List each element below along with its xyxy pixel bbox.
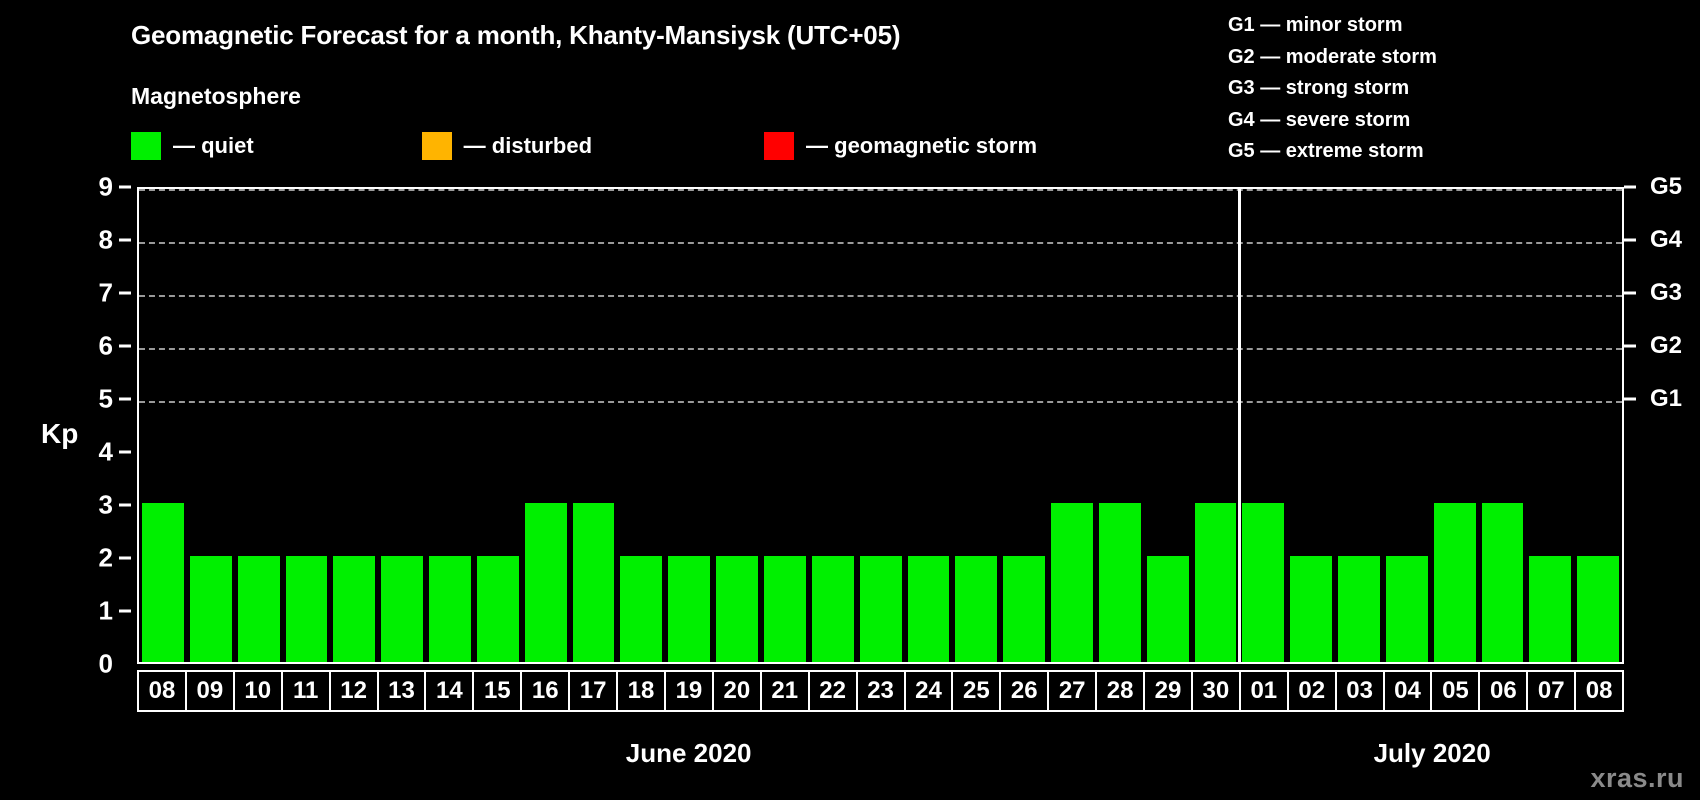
g-tick-label-g2: G2 bbox=[1650, 332, 1682, 360]
date-cell[interactable]: 03 bbox=[1337, 672, 1385, 710]
date-cell[interactable]: 06 bbox=[1480, 672, 1528, 710]
bar[interactable] bbox=[429, 556, 471, 662]
bar-cell[interactable] bbox=[1479, 189, 1527, 662]
kp-tick-label-4: 4 bbox=[99, 437, 113, 468]
bar-cell[interactable] bbox=[1000, 189, 1048, 662]
date-axis: 0809101112131415161718192021222324252627… bbox=[137, 670, 1624, 712]
kp-axis-title: Kp bbox=[41, 418, 78, 450]
date-cell[interactable]: 09 bbox=[187, 672, 235, 710]
kp-tick-label-8: 8 bbox=[99, 225, 113, 256]
bar[interactable] bbox=[812, 556, 854, 662]
g-tick-mark-g2 bbox=[1624, 345, 1636, 348]
bar-cell[interactable] bbox=[617, 189, 665, 662]
bar[interactable] bbox=[142, 503, 184, 662]
date-cell[interactable]: 29 bbox=[1145, 672, 1193, 710]
bar-cell[interactable] bbox=[1048, 189, 1096, 662]
chart-plot-wrapper: 0123456789 Kp G1G2G3G4G5 080910111213141… bbox=[0, 0, 1700, 800]
kp-tick-mark-9 bbox=[119, 186, 131, 189]
bar[interactable] bbox=[1386, 556, 1428, 662]
bar[interactable] bbox=[286, 556, 328, 662]
g-tick-label-g5: G5 bbox=[1650, 173, 1682, 201]
date-cell[interactable]: 08 bbox=[1576, 672, 1622, 710]
date-cell[interactable]: 24 bbox=[906, 672, 954, 710]
date-cell[interactable]: 22 bbox=[810, 672, 858, 710]
bar[interactable] bbox=[1529, 556, 1571, 662]
month-label: June 2020 bbox=[626, 738, 752, 769]
bar-cell[interactable] bbox=[283, 189, 331, 662]
bar-cell[interactable] bbox=[522, 189, 570, 662]
kp-tick-mark-3 bbox=[119, 504, 131, 507]
bar-cell[interactable] bbox=[1431, 189, 1479, 662]
kp-tick-mark-4 bbox=[119, 451, 131, 454]
bar-cell[interactable] bbox=[378, 189, 426, 662]
bar[interactable] bbox=[716, 556, 758, 662]
kp-tick-label-3: 3 bbox=[99, 490, 113, 521]
kp-tick-mark-2 bbox=[119, 557, 131, 560]
date-cell[interactable]: 08 bbox=[139, 672, 187, 710]
bar[interactable] bbox=[525, 503, 567, 662]
kp-tick-label-1: 1 bbox=[99, 596, 113, 627]
bar-cell[interactable] bbox=[1096, 189, 1144, 662]
kp-tick-mark-7 bbox=[119, 292, 131, 295]
bar-cell[interactable] bbox=[952, 189, 1000, 662]
bar-cell[interactable] bbox=[713, 189, 761, 662]
date-cell[interactable]: 05 bbox=[1432, 672, 1480, 710]
kp-tick-label-7: 7 bbox=[99, 278, 113, 309]
bar[interactable] bbox=[333, 556, 375, 662]
date-cell[interactable]: 07 bbox=[1528, 672, 1576, 710]
date-cell[interactable]: 20 bbox=[714, 672, 762, 710]
bar-cell[interactable] bbox=[1144, 189, 1192, 662]
kp-tick-mark-1 bbox=[119, 610, 131, 613]
bar[interactable] bbox=[573, 503, 615, 662]
bar-cell[interactable] bbox=[761, 189, 809, 662]
bar-cell[interactable] bbox=[809, 189, 857, 662]
kp-tick-mark-5 bbox=[119, 398, 131, 401]
bar[interactable] bbox=[1051, 503, 1093, 662]
date-cell[interactable]: 17 bbox=[570, 672, 618, 710]
g-tick-label-g1: G1 bbox=[1650, 385, 1682, 413]
date-cell[interactable]: 27 bbox=[1049, 672, 1097, 710]
date-cell[interactable]: 02 bbox=[1289, 672, 1337, 710]
bar[interactable] bbox=[1147, 556, 1189, 662]
bar-cell[interactable] bbox=[1383, 189, 1431, 662]
g-tick-label-g4: G4 bbox=[1650, 226, 1682, 254]
bar[interactable] bbox=[238, 556, 280, 662]
bar-series bbox=[139, 189, 1622, 662]
date-cell[interactable]: 16 bbox=[522, 672, 570, 710]
date-cell[interactable]: 11 bbox=[283, 672, 331, 710]
g-scale-axis: G1G2G3G4G5 bbox=[1624, 187, 1700, 664]
bar-cell[interactable] bbox=[1526, 189, 1574, 662]
bar[interactable] bbox=[1242, 503, 1284, 662]
bar-cell[interactable] bbox=[139, 189, 187, 662]
kp-tick-label-2: 2 bbox=[99, 543, 113, 574]
bar[interactable] bbox=[381, 556, 423, 662]
month-label: July 2020 bbox=[1374, 738, 1491, 769]
bar-cell[interactable] bbox=[187, 189, 235, 662]
bar[interactable] bbox=[1290, 556, 1332, 662]
date-cell[interactable]: 26 bbox=[1001, 672, 1049, 710]
bar[interactable] bbox=[668, 556, 710, 662]
g-tick-mark-g4 bbox=[1624, 239, 1636, 242]
kp-tick-mark-8 bbox=[119, 239, 131, 242]
bar[interactable] bbox=[1338, 556, 1380, 662]
bar[interactable] bbox=[190, 556, 232, 662]
date-cell[interactable]: 12 bbox=[331, 672, 379, 710]
date-cell[interactable]: 13 bbox=[379, 672, 427, 710]
bar-cell[interactable] bbox=[665, 189, 713, 662]
date-cell[interactable]: 30 bbox=[1193, 672, 1241, 710]
bar-cell[interactable] bbox=[1335, 189, 1383, 662]
date-cell[interactable]: 10 bbox=[235, 672, 283, 710]
kp-tick-label-6: 6 bbox=[99, 331, 113, 362]
bar-cell[interactable] bbox=[1574, 189, 1622, 662]
bar-cell[interactable] bbox=[330, 189, 378, 662]
date-cell[interactable]: 19 bbox=[666, 672, 714, 710]
date-cell[interactable]: 01 bbox=[1241, 672, 1289, 710]
watermark: xras.ru bbox=[1590, 763, 1684, 794]
month-divider bbox=[1238, 189, 1241, 662]
bar[interactable] bbox=[860, 556, 902, 662]
bar-cell[interactable] bbox=[857, 189, 905, 662]
bar[interactable] bbox=[1099, 503, 1141, 662]
bar-cell[interactable] bbox=[235, 189, 283, 662]
bar[interactable] bbox=[1434, 503, 1476, 662]
date-cell[interactable]: 14 bbox=[426, 672, 474, 710]
date-cell[interactable]: 21 bbox=[762, 672, 810, 710]
kp-tick-label-9: 9 bbox=[99, 172, 113, 203]
bar[interactable] bbox=[1195, 503, 1237, 662]
bar[interactable] bbox=[620, 556, 662, 662]
bar-cell[interactable] bbox=[426, 189, 474, 662]
bar[interactable] bbox=[764, 556, 806, 662]
date-cell[interactable]: 15 bbox=[474, 672, 522, 710]
bar[interactable] bbox=[1577, 556, 1619, 662]
bar-cell[interactable] bbox=[570, 189, 618, 662]
bar[interactable] bbox=[908, 556, 950, 662]
date-cell[interactable]: 18 bbox=[618, 672, 666, 710]
date-cell[interactable]: 04 bbox=[1385, 672, 1433, 710]
bar-cell[interactable] bbox=[1287, 189, 1335, 662]
kp-tick-label-0: 0 bbox=[99, 649, 113, 680]
bar-cell[interactable] bbox=[1239, 189, 1287, 662]
date-cell[interactable]: 28 bbox=[1097, 672, 1145, 710]
bar[interactable] bbox=[477, 556, 519, 662]
date-cell[interactable]: 25 bbox=[953, 672, 1001, 710]
g-tick-mark-g3 bbox=[1624, 292, 1636, 295]
bar[interactable] bbox=[955, 556, 997, 662]
g-tick-mark-g1 bbox=[1624, 398, 1636, 401]
bar-cell[interactable] bbox=[1192, 189, 1240, 662]
date-cell[interactable]: 23 bbox=[858, 672, 906, 710]
bar-cell[interactable] bbox=[474, 189, 522, 662]
bar[interactable] bbox=[1003, 556, 1045, 662]
bar[interactable] bbox=[1482, 503, 1524, 662]
kp-tick-label-5: 5 bbox=[99, 384, 113, 415]
g-tick-mark-g5 bbox=[1624, 186, 1636, 189]
plot-area bbox=[137, 187, 1624, 664]
bar-cell[interactable] bbox=[905, 189, 953, 662]
kp-axis: 0123456789 bbox=[75, 187, 131, 664]
g-tick-label-g3: G3 bbox=[1650, 279, 1682, 307]
kp-tick-mark-6 bbox=[119, 345, 131, 348]
